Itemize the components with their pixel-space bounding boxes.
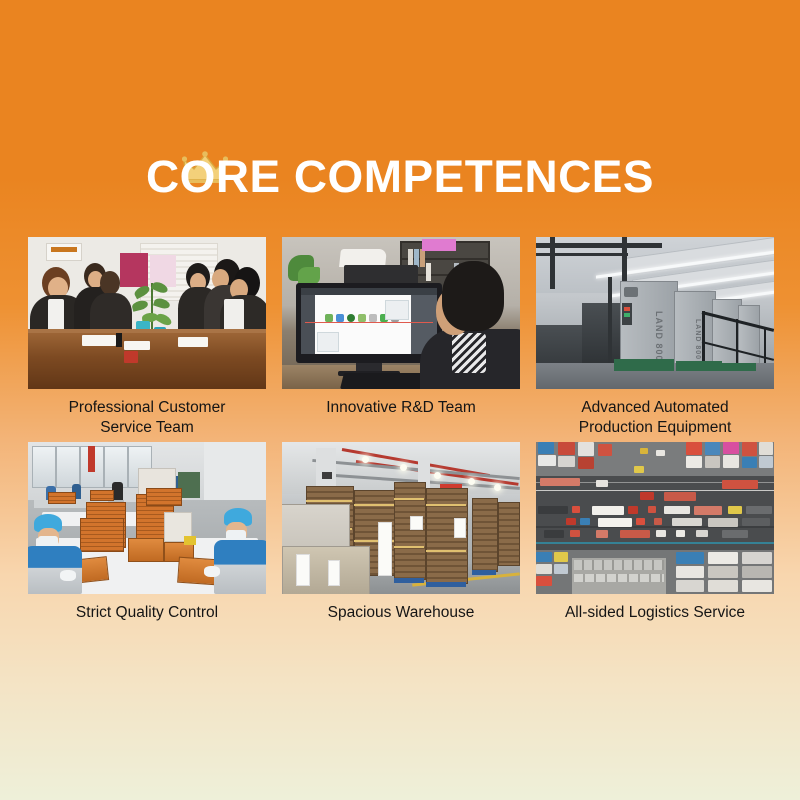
- card-advanced-automated-production-equipment[interactable]: LAND 800 LAND 800 Advanced Automated Pro…: [536, 237, 774, 438]
- title-block: CORE COMPETENCES: [0, 148, 800, 206]
- caption-all-sided-logistics-service: All-sided Logistics Service: [536, 603, 774, 623]
- page-title: CORE COMPETENCES: [0, 148, 800, 206]
- caption-spacious-warehouse: Spacious Warehouse: [282, 603, 520, 623]
- card-all-sided-logistics-service[interactable]: All-sided Logistics Service: [536, 442, 774, 623]
- card-professional-customer-service-team[interactable]: Professional Customer Service Team: [28, 237, 266, 438]
- image-professional-customer-service-team: [28, 237, 266, 389]
- card-spacious-warehouse[interactable]: Spacious Warehouse: [282, 442, 520, 623]
- image-advanced-automated-production-equipment: LAND 800 LAND 800: [536, 237, 774, 389]
- card-innovative-rd-team[interactable]: Innovative R&D Team: [282, 237, 520, 438]
- caption-advanced-automated-production-equipment: Advanced Automated Production Equipment: [536, 398, 774, 438]
- core-competences-poster: CORE COMPETENCES: [0, 0, 800, 800]
- caption-line-1: Professional Customer: [69, 399, 226, 416]
- competence-grid: Professional Customer Service Team: [28, 237, 772, 623]
- image-all-sided-logistics-service: [536, 442, 774, 594]
- caption-innovative-rd-team: Innovative R&D Team: [282, 398, 520, 418]
- card-strict-quality-control[interactable]: Strict Quality Control: [28, 442, 266, 623]
- caption-professional-customer-service-team: Professional Customer Service Team: [28, 398, 266, 438]
- image-strict-quality-control: [28, 442, 266, 594]
- caption-strict-quality-control: Strict Quality Control: [28, 603, 266, 623]
- image-innovative-rd-team: [282, 237, 520, 389]
- caption-line-2: Service Team: [100, 419, 194, 436]
- image-spacious-warehouse: [282, 442, 520, 594]
- caption-line-2: Production Equipment: [579, 419, 732, 436]
- caption-line-1: Advanced Automated: [581, 399, 728, 416]
